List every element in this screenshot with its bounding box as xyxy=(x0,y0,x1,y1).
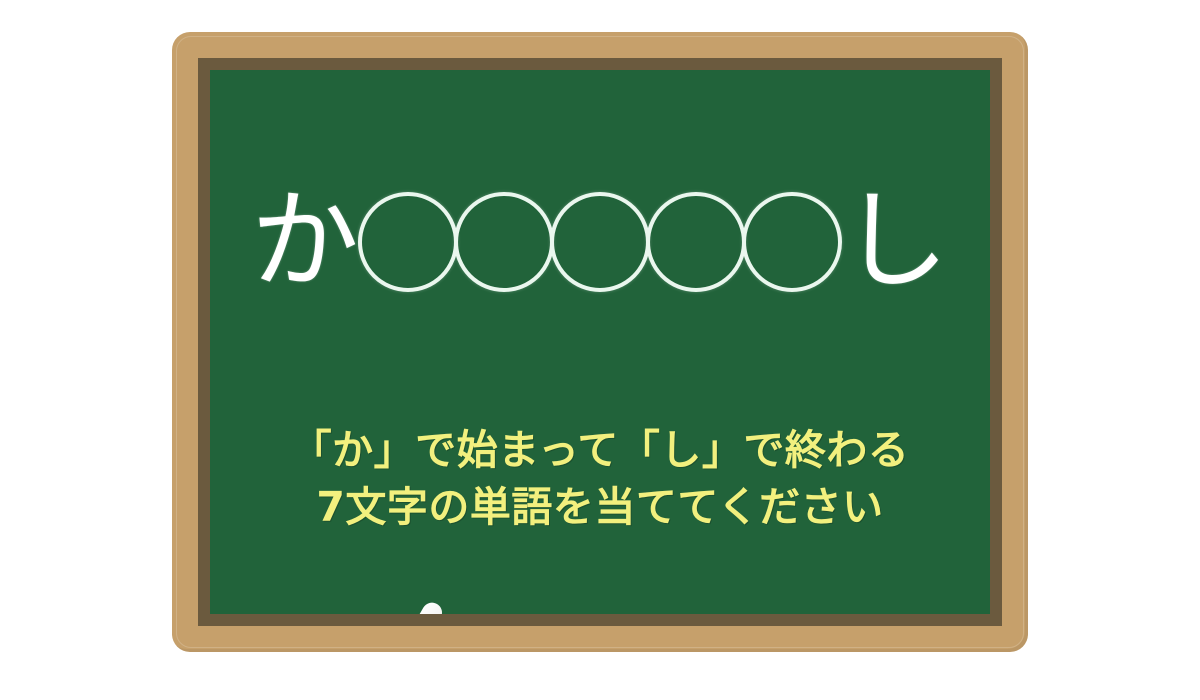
screenshot-stage: か し 「か」で始まって「し」で終わる 7文字の単語を当ててください xyxy=(0,0,1200,700)
chalkboard-inner-border: か し 「か」で始まって「し」で終わる 7文字の単語を当ててください xyxy=(198,58,1002,626)
chalkboard-wooden-frame: か し 「か」で始まって「し」で終わる 7文字の単語を当ててください xyxy=(172,32,1028,652)
puzzle-first-character: か xyxy=(250,188,360,296)
puzzle-blank-slot-1[interactable] xyxy=(358,192,458,292)
white-chalk-icon[interactable] xyxy=(387,599,445,614)
chalk-tray-group xyxy=(282,585,502,614)
instruction-line-1: 「か」で始まって「し」で終わる xyxy=(210,422,990,479)
instruction-text-block: 「か」で始まって「し」で終わる 7文字の単語を当ててください xyxy=(210,422,990,535)
instruction-line-2: 7文字の単語を当ててください xyxy=(210,479,990,536)
chalkboard-surface: か し 「か」で始まって「し」で終わる 7文字の単語を当ててください xyxy=(210,70,990,614)
puzzle-blank-slot-4[interactable] xyxy=(646,192,746,292)
puzzle-word-row: か し xyxy=(210,188,990,296)
puzzle-blank-slot-2[interactable] xyxy=(454,192,554,292)
puzzle-blank-slot-3[interactable] xyxy=(550,192,650,292)
puzzle-last-character: し xyxy=(840,188,950,296)
puzzle-blank-slot-5[interactable] xyxy=(742,192,842,292)
